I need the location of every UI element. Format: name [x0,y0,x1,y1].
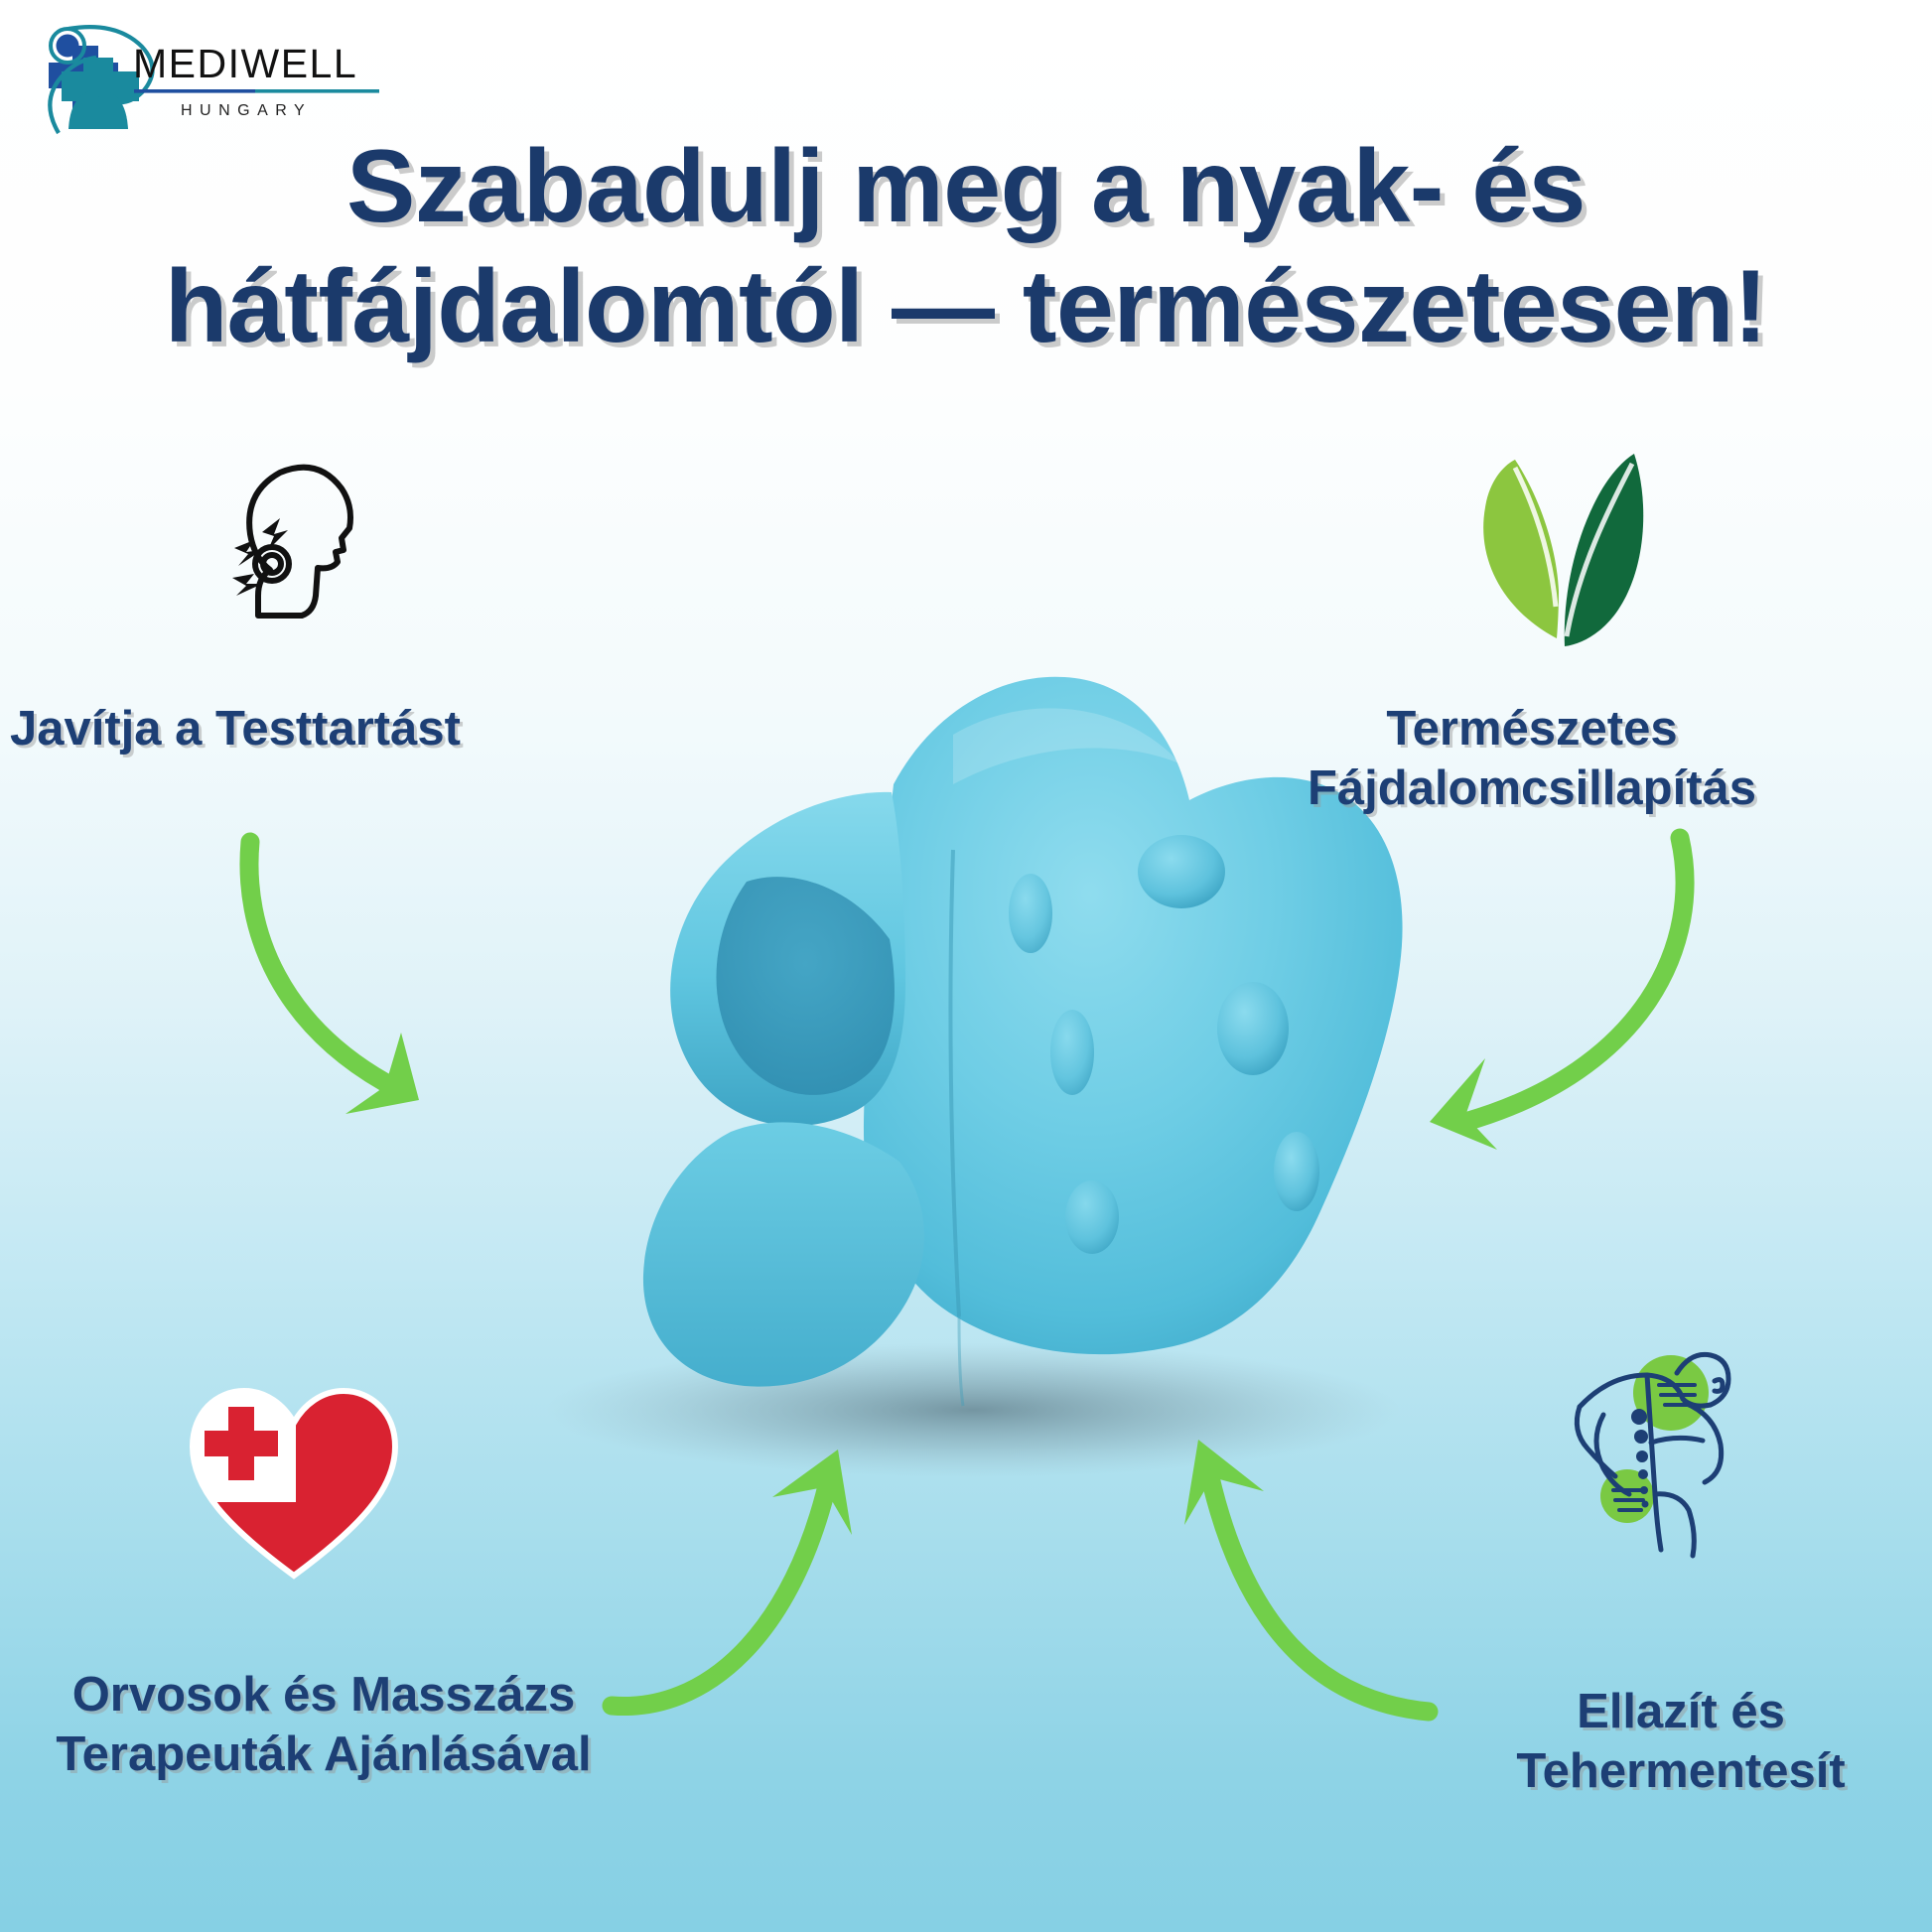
back-neck-pain-person-icon [1544,1345,1782,1574]
two-leaves-icon [1459,452,1668,660]
feature-label-natural-pain-relief: Természetes Fájdalomcsillapítás [1132,700,1932,819]
feature-label-recommended-by-doctors: Orvosok és Masszázs Terapeuták Ajánlásáv… [6,1666,641,1785]
curved-arrow-down-right-icon [234,834,522,1132]
curved-arrow-up-right-icon [596,1440,923,1727]
headline-line-2: hátfájdalomtól — természetesen! [0,247,1932,367]
mediwell-wordmark: MEDIWELL HUNGARY [133,41,379,119]
feature-label-posture: Javítja a Testtartást [10,700,625,759]
curved-arrow-up-left-icon [1028,1430,1445,1727]
svg-text:MEDIWELL: MEDIWELL [133,41,357,86]
page-title: Szabadulj meg a nyak- és hátfájdalomtól … [0,127,1932,366]
svg-text:HUNGARY: HUNGARY [181,102,312,119]
head-neck-pain-icon [185,447,383,645]
heart-medical-cross-icon [185,1385,403,1584]
headline-line-1: Szabadulj meg a nyak- és [0,127,1932,247]
curved-arrow-down-left-icon [1370,824,1767,1152]
advertisement-canvas: MEDIWELL HUNGARY Szabadulj meg a nyak- é… [0,0,1932,1932]
brand-logo[interactable]: MEDIWELL HUNGARY [22,22,389,141]
leaf-dark [1565,454,1643,646]
feature-label-relax: Ellazít és Tehermentesít [1430,1683,1932,1802]
